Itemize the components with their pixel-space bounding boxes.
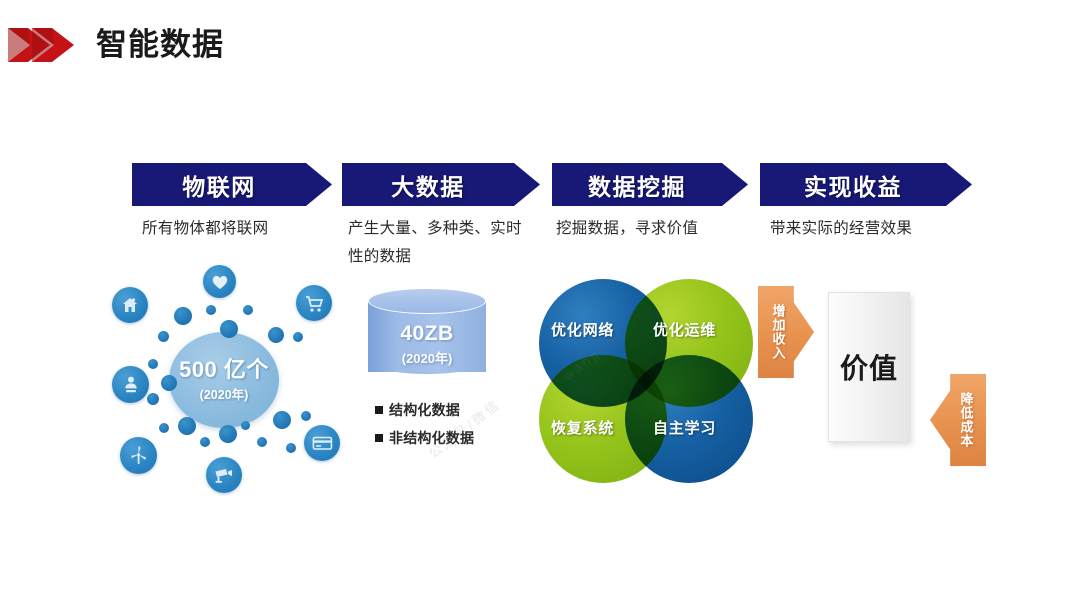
network-dot (200, 437, 210, 447)
iot-network-graphic: 500 亿个 (2020年) (112, 265, 352, 490)
iot-core-year: (2020年) (200, 384, 249, 403)
network-dot (174, 307, 192, 325)
legend-marker-icon (375, 434, 383, 442)
slide-header: 智能数据 (0, 0, 1080, 95)
network-dot (293, 332, 303, 342)
person-icon (112, 366, 149, 403)
network-dot (257, 437, 267, 447)
value-graphic: 增加收入 价值 降低成本 (748, 280, 998, 480)
slide-canvas: 智能数据 物联网 大数据 数据挖掘 实现收益 所有物体都将联网 产生大量、多种类… (0, 0, 1080, 613)
network-dot (241, 421, 250, 430)
network-dot (268, 327, 284, 343)
flow-step-4-label: 实现收益 (760, 163, 946, 206)
reduce-cost-label: 降低成本 (959, 392, 974, 448)
cylinder-top (368, 288, 486, 314)
flow-step-2-caption: 产生大量、多种类、实时性的数据 (348, 215, 528, 271)
page-title: 智能数据 (96, 24, 224, 66)
home-icon (112, 287, 148, 323)
network-dot (206, 305, 216, 315)
legend-marker-icon (375, 406, 383, 414)
double-chevron-icon (6, 26, 74, 64)
cylinder-year: (2020年) (368, 348, 486, 367)
legend-item-unstructured: 非结构化数据 (375, 428, 474, 448)
heart-icon (203, 265, 236, 298)
network-dot (161, 375, 177, 391)
network-dot (148, 359, 158, 369)
flow-step-3-label: 数据挖掘 (552, 163, 722, 206)
venn-label-bottom-left: 恢复系统 (551, 417, 614, 438)
camera-icon (206, 457, 242, 493)
cart-icon (296, 285, 332, 321)
data-cylinder: 40ZB (2020年) (368, 288, 486, 384)
cylinder-value: 40ZB (368, 322, 486, 346)
flow-step-1-banner[interactable]: 物联网 (132, 163, 332, 206)
venn-label-top-right: 优化运维 (653, 319, 716, 340)
venn-label-top-left: 优化网络 (551, 319, 614, 340)
flow-step-3-caption: 挖掘数据，寻求价值 (556, 215, 756, 243)
value-box: 价值 (828, 292, 910, 442)
cylinder-text: 40ZB (2020年) (368, 322, 486, 367)
increase-revenue-arrow: 增加收入 (758, 286, 814, 378)
legend-item-label: 非结构化数据 (389, 428, 474, 448)
network-dot (220, 320, 238, 338)
legend-item-label: 结构化数据 (389, 400, 460, 420)
flow-step-4-caption: 带来实际的经营效果 (770, 215, 980, 243)
slide-body: 物联网 大数据 数据挖掘 实现收益 所有物体都将联网 产生大量、多种类、实时性的… (0, 95, 1080, 613)
network-dot (301, 411, 311, 421)
network-dot (286, 443, 296, 453)
value-label: 价值 (840, 347, 898, 387)
card-icon (304, 425, 340, 461)
network-dot (273, 411, 291, 429)
flow-step-2-label: 大数据 (342, 163, 514, 206)
iot-core-value: 500 亿个 (179, 357, 269, 382)
flow-step-2-banner[interactable]: 大数据 (342, 163, 540, 206)
network-dot (219, 425, 237, 443)
iot-core-bubble: 500 亿个 (2020年) (169, 332, 279, 428)
network-dot (158, 331, 169, 342)
network-dot (159, 423, 169, 433)
venn-diagram: 优化网络 优化运维 恢复系统 自主学习 (533, 275, 765, 490)
venn-label-bottom-right: 自主学习 (653, 417, 716, 438)
increase-revenue-label: 增加收入 (771, 304, 786, 360)
flow-step-1-label: 物联网 (132, 163, 306, 206)
network-dot (147, 393, 159, 405)
network-dot (178, 417, 196, 435)
bigdata-graphic: 40ZB (2020年) 结构化数据 非结构化数据 (360, 280, 540, 495)
flow-step-3-banner[interactable]: 数据挖掘 (552, 163, 748, 206)
legend-item-structured: 结构化数据 (375, 400, 460, 420)
network-dot (243, 305, 253, 315)
turbine-icon (120, 437, 157, 474)
reduce-cost-arrow: 降低成本 (930, 374, 986, 466)
flow-step-4-banner[interactable]: 实现收益 (760, 163, 972, 206)
flow-step-1-caption: 所有物体都将联网 (142, 215, 342, 243)
